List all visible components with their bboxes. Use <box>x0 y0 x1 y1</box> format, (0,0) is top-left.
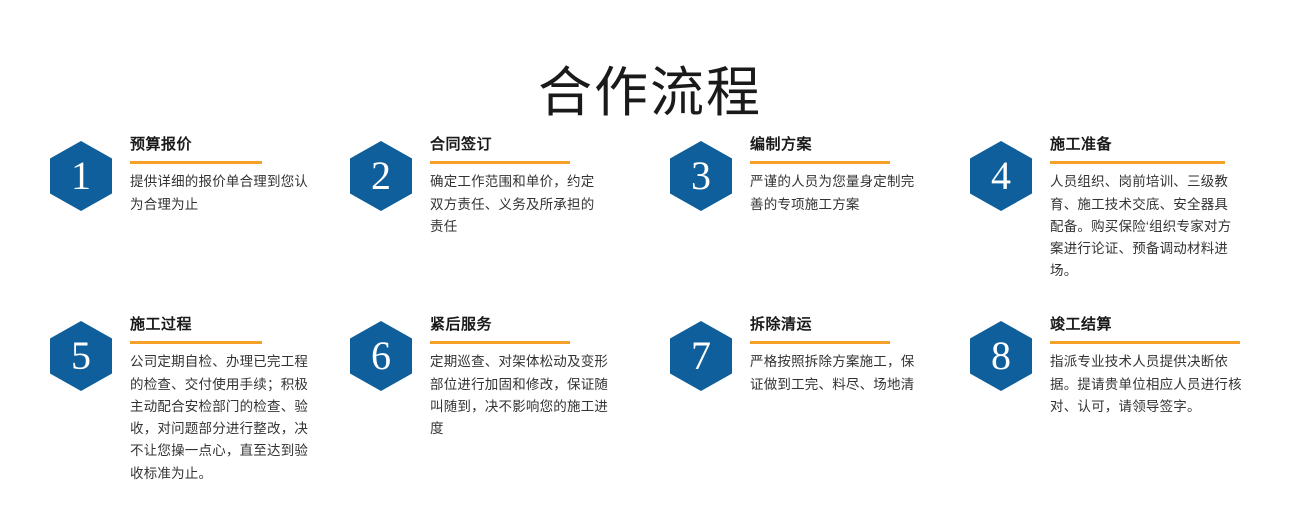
title-underline-rule <box>1050 341 1240 344</box>
step-number-hexagon: 2 <box>350 141 412 211</box>
step-description: 人员组织、岗前培训、三级教育、施工技术交底、安全器具配备。购买保险‘组织专家对方… <box>1050 171 1232 282</box>
step-title: 合同签订 <box>430 135 605 155</box>
step-number-hexagon: 5 <box>50 321 112 391</box>
title-underline-rule <box>130 161 262 164</box>
step-text-block: 施工准备 人员组织、岗前培训、三级教育、施工技术交底、安全器具配备。购买保险‘组… <box>1050 131 1232 283</box>
process-step-7: 7 拆除清运 严格按照拆除方案施工，保证做到工完、料尽、场地清 <box>615 311 915 511</box>
process-step-row-top: 1 预算报价 提供详细的报价单合理到您认为合理为止 2 合同签订 确定工作范围和… <box>0 131 1300 311</box>
title-underline-rule <box>430 341 570 344</box>
process-step-3: 3 编制方案 严谨的人员为您量身定制完善的专项施工方案 <box>615 131 915 311</box>
step-title: 编制方案 <box>750 135 922 155</box>
step-description: 公司定期自检、办理已完工程的检查、交付使用手续；积极主动配合安检部门的检查、验收… <box>130 351 312 485</box>
step-text-block: 编制方案 严谨的人员为您量身定制完善的专项施工方案 <box>750 131 922 216</box>
step-number-hexagon: 3 <box>670 141 732 211</box>
step-description: 指派专业技术人员提供决断依据。提请贵单位相应人员进行核对、认可，请领导签字。 <box>1050 351 1250 418</box>
step-number-hexagon: 7 <box>670 321 732 391</box>
step-number-hexagon: 6 <box>350 321 412 391</box>
step-description: 提供详细的报价单合理到您认为合理为止 <box>130 171 312 216</box>
process-step-1: 1 预算报价 提供详细的报价单合理到您认为合理为止 <box>0 131 305 311</box>
step-description: 严格按照拆除方案施工，保证做到工完、料尽、场地清 <box>750 351 922 396</box>
step-number: 2 <box>371 156 391 196</box>
process-step-5: 5 施工过程 公司定期自检、办理已完工程的检查、交付使用手续；积极主动配合安检部… <box>0 311 305 511</box>
process-step-row-bottom: 5 施工过程 公司定期自检、办理已完工程的检查、交付使用手续；积极主动配合安检部… <box>0 311 1300 511</box>
step-description: 严谨的人员为您量身定制完善的专项施工方案 <box>750 171 922 216</box>
process-step-4: 4 施工准备 人员组织、岗前培训、三级教育、施工技术交底、安全器具配备。购买保险… <box>915 131 1300 311</box>
step-number: 5 <box>71 336 91 376</box>
step-text-block: 拆除清运 严格按照拆除方案施工，保证做到工完、料尽、场地清 <box>750 311 922 396</box>
process-step-8: 8 竣工结算 指派专业技术人员提供决断依据。提请贵单位相应人员进行核对、认可，请… <box>915 311 1300 511</box>
step-title: 拆除清运 <box>750 315 922 335</box>
process-step-2: 2 合同签订 确定工作范围和单价，约定双方责任、义务及所承担的责任 <box>305 131 615 311</box>
step-number: 6 <box>371 336 391 376</box>
step-number-hexagon: 8 <box>970 321 1032 391</box>
step-number: 3 <box>691 156 711 196</box>
step-number: 7 <box>691 336 711 376</box>
step-title: 施工过程 <box>130 315 312 335</box>
process-steps-grid: 1 预算报价 提供详细的报价单合理到您认为合理为止 2 合同签订 确定工作范围和… <box>0 131 1300 511</box>
title-underline-rule <box>130 341 262 344</box>
step-text-block: 紧后服务 定期巡查、对架体松动及变形部位进行加固和修改，保证随叫随到，决不影响您… <box>430 311 610 440</box>
title-underline-rule <box>430 161 570 164</box>
title-underline-rule <box>750 161 890 164</box>
step-text-block: 合同签订 确定工作范围和单价，约定双方责任、义务及所承担的责任 <box>430 131 605 238</box>
title-underline-rule <box>750 341 890 344</box>
title-underline-rule <box>1050 161 1225 164</box>
step-number: 8 <box>991 336 1011 376</box>
page-title: 合作流程 <box>0 60 1300 128</box>
step-text-block: 预算报价 提供详细的报价单合理到您认为合理为止 <box>130 131 312 216</box>
step-title: 施工准备 <box>1050 135 1232 155</box>
step-text-block: 竣工结算 指派专业技术人员提供决断依据。提请贵单位相应人员进行核对、认可，请领导… <box>1050 311 1250 418</box>
step-number: 4 <box>991 156 1011 196</box>
step-number: 1 <box>71 156 91 196</box>
step-title: 预算报价 <box>130 135 312 155</box>
process-step-6: 6 紧后服务 定期巡查、对架体松动及变形部位进行加固和修改，保证随叫随到，决不影… <box>305 311 615 511</box>
step-description: 定期巡查、对架体松动及变形部位进行加固和修改，保证随叫随到，决不影响您的施工进度 <box>430 351 610 440</box>
step-text-block: 施工过程 公司定期自检、办理已完工程的检查、交付使用手续；积极主动配合安检部门的… <box>130 311 312 485</box>
step-description: 确定工作范围和单价，约定双方责任、义务及所承担的责任 <box>430 171 605 238</box>
step-title: 竣工结算 <box>1050 315 1250 335</box>
step-title: 紧后服务 <box>430 315 610 335</box>
step-number-hexagon: 1 <box>50 141 112 211</box>
step-number-hexagon: 4 <box>970 141 1032 211</box>
